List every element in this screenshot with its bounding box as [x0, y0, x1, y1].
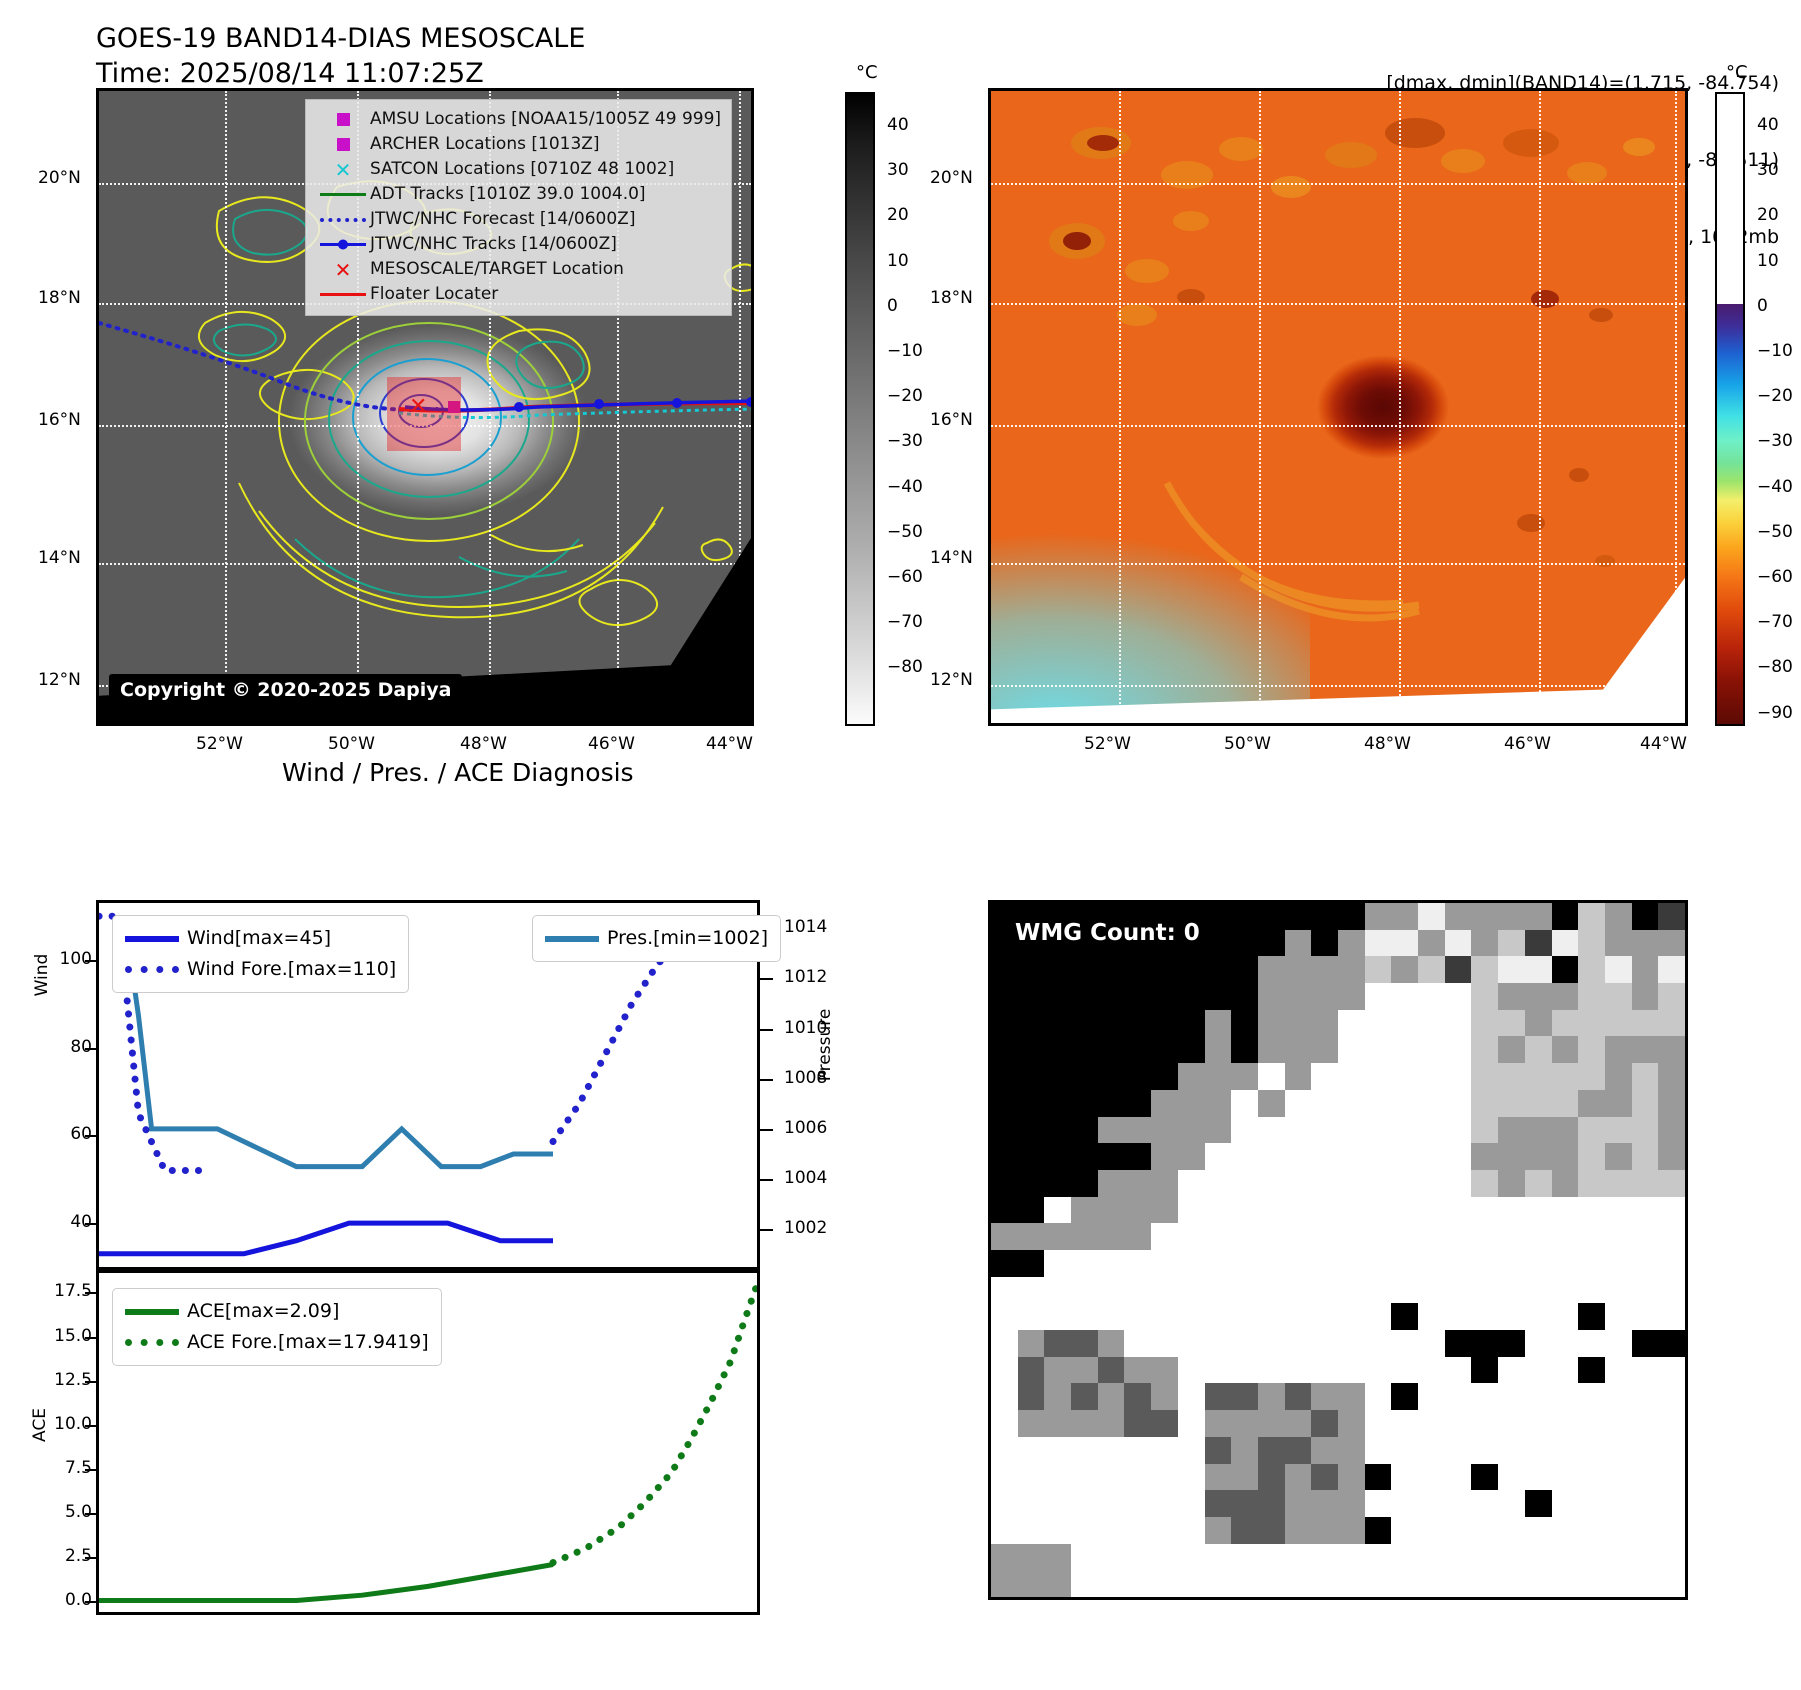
wmg-tile [1124, 1036, 1151, 1063]
pressure-tick-mark [760, 1079, 773, 1081]
wmg-tile [1552, 1303, 1579, 1330]
wmg-tile [991, 1383, 1018, 1410]
wmg-tile [1311, 983, 1338, 1010]
wmg-tile [1498, 1437, 1525, 1464]
wmg-tile [1285, 1197, 1312, 1224]
wmg-tile [1471, 903, 1498, 930]
wmg-tile [1044, 1330, 1071, 1357]
ir-lon-tick-44w: 44°W [706, 734, 753, 754]
wmg-tile [1151, 1036, 1178, 1063]
wmg-tile [1578, 1063, 1605, 1090]
wmg-tile [1124, 1277, 1151, 1304]
wmg-tile [1258, 1170, 1285, 1197]
wmg-tile [1552, 1544, 1579, 1571]
legend-item: Wind[max=45] [125, 923, 396, 954]
wmg-tile [1578, 1303, 1605, 1330]
wmg-tile [1552, 1490, 1579, 1517]
ir-lat-tick-16n: 16°N [38, 410, 81, 430]
wmg-tile [1418, 1464, 1445, 1491]
colorbar-tick-label: 10 [887, 251, 909, 271]
colorbar-tick-label: −10 [887, 341, 923, 361]
wmg-tile [1578, 1410, 1605, 1437]
wmg-tile [1525, 1437, 1552, 1464]
wmg-tile [1018, 1517, 1045, 1544]
legend-item: Floater Locater [316, 282, 721, 307]
wmg-tile [1365, 1490, 1392, 1517]
wmg-tile [1124, 956, 1151, 983]
wmg-tile [1018, 1464, 1045, 1491]
wmg-tile [1285, 1517, 1312, 1544]
wmg-tile [1498, 1250, 1525, 1277]
wmg-tile [1018, 1197, 1045, 1224]
wmg-tile [1365, 1303, 1392, 1330]
wmg-tile [1178, 1036, 1205, 1063]
wmg-tile [1258, 1464, 1285, 1491]
wmg-tile [1044, 1117, 1071, 1144]
amsu-square-icon [316, 113, 370, 126]
ir-mesoscale-map[interactable]: ✕ AMSU Locations [NOAA15/1005Z 49 999] A… [96, 88, 754, 726]
wmg-tile [1658, 930, 1685, 957]
wmg-tile [1178, 1250, 1205, 1277]
wmg-tile [1258, 1357, 1285, 1384]
wmg-tile [1498, 1303, 1525, 1330]
wmg-tile [1632, 1410, 1659, 1437]
wmg-tile [1445, 1036, 1472, 1063]
ir-lon-tick-48w: 48°W [460, 734, 507, 754]
floater-line-icon [316, 293, 370, 296]
wmg-tile [1365, 1250, 1392, 1277]
wmg-tile [1365, 1437, 1392, 1464]
wmg-tile [1098, 1357, 1125, 1384]
wmg-tile [1285, 1437, 1312, 1464]
wmg-tile [1552, 1143, 1579, 1170]
wmg-tile [1658, 1090, 1685, 1117]
wmg-tile [1258, 1277, 1285, 1304]
wmg-tile [1044, 1250, 1071, 1277]
wmg-tile [1098, 1464, 1125, 1491]
wmg-tile [1098, 1010, 1125, 1037]
wmg-tile [1205, 1036, 1232, 1063]
ir-lat-tick-18n: 18°N [38, 288, 81, 308]
wmg-tile [1098, 1170, 1125, 1197]
wmg-tile [1338, 1010, 1365, 1037]
wmg-tile [1018, 1357, 1045, 1384]
wmg-tile [1258, 1517, 1285, 1544]
wmg-tile [1044, 1090, 1071, 1117]
wmg-tile [1418, 930, 1445, 957]
wmg-tile [1124, 1570, 1151, 1597]
wmg-tile [1338, 903, 1365, 930]
wmg-tile [1205, 1303, 1232, 1330]
wmg-tile [1258, 1143, 1285, 1170]
wmg-tile [991, 956, 1018, 983]
wmg-tile [1258, 1303, 1285, 1330]
wmg-tile [1044, 1464, 1071, 1491]
colorbar-tick-label: −60 [887, 567, 923, 587]
wmg-tile [1552, 1223, 1579, 1250]
forecast-dotted-line-icon [316, 218, 370, 222]
wmg-tile [1151, 1303, 1178, 1330]
wmg-tile [1124, 1170, 1151, 1197]
ir-lat-tick-20n: 20°N [38, 168, 81, 188]
colorbar-tick-label: 40 [1757, 115, 1779, 135]
colorbar-tick-label: 30 [887, 160, 909, 180]
wmg-tile [1338, 1490, 1365, 1517]
wmg-tile [1258, 1197, 1285, 1224]
wmg-tile [1632, 1223, 1659, 1250]
wmg-tile [1418, 1063, 1445, 1090]
wmg-tile [1605, 1170, 1632, 1197]
wmg-tile [1552, 1197, 1579, 1224]
wmg-tile [1311, 1570, 1338, 1597]
wmg-tile [1285, 1036, 1312, 1063]
wmg-tile [1338, 1330, 1365, 1357]
wmg-tile [1311, 1250, 1338, 1277]
wmg-tile [1258, 1223, 1285, 1250]
wmg-tile [1498, 1010, 1525, 1037]
wmg-tile [1071, 1010, 1098, 1037]
wmg-tile [991, 1330, 1018, 1357]
wmg-tile [1365, 1383, 1392, 1410]
legend-label: JTWC/NHC Forecast [14/0600Z] [370, 211, 635, 228]
wmg-tile [1525, 1063, 1552, 1090]
wmg-tile [1365, 1063, 1392, 1090]
wmg-tile [1552, 1383, 1579, 1410]
legend-label: ACE Fore.[max=17.9419] [187, 1333, 429, 1352]
wmg-tile [1231, 1036, 1258, 1063]
wmg-tile [1445, 903, 1472, 930]
wmg-tile [1258, 1090, 1285, 1117]
wmg-tile [1018, 1063, 1045, 1090]
wmg-tile [1338, 1277, 1365, 1304]
wmg-tile [1018, 1117, 1045, 1144]
wmg-tile [1391, 1357, 1418, 1384]
ace-tick-label: 10.0 [30, 1414, 92, 1434]
wmg-tile [1285, 1143, 1312, 1170]
map-legend: AMSU Locations [NOAA15/1005Z 49 999] ARC… [305, 99, 732, 316]
wmg-tile [1658, 1464, 1685, 1491]
pressure-solid-line-icon [545, 936, 607, 942]
wmg-tile [1471, 1570, 1498, 1597]
wmg-tile [1605, 1383, 1632, 1410]
wmg-tile [1391, 1250, 1418, 1277]
wmg-tile [1578, 1437, 1605, 1464]
wmg-tile [1418, 1330, 1445, 1357]
wmg-tile [1285, 903, 1312, 930]
wmg-tile [1151, 1383, 1178, 1410]
wmg-tile [1418, 1410, 1445, 1437]
wmg-tile [1391, 1383, 1418, 1410]
wmg-tile [1124, 1010, 1151, 1037]
colorbar-tick-label: −20 [887, 386, 923, 406]
wmg-tile [1311, 1117, 1338, 1144]
wmg-tile [1044, 1383, 1071, 1410]
wmg-tile [1285, 1090, 1312, 1117]
wmg-tile [1098, 1063, 1125, 1090]
wmg-tile [1552, 1036, 1579, 1063]
wmg-tile [1365, 1010, 1392, 1037]
wmg-tile [1098, 1383, 1125, 1410]
wmg-tile [1365, 1117, 1392, 1144]
wmg-tile [1205, 1223, 1232, 1250]
wmg-tile [1205, 956, 1232, 983]
wmg-tile [1258, 1410, 1285, 1437]
wmg-tile [991, 1250, 1018, 1277]
wmg-tile [1311, 1090, 1338, 1117]
wmg-tile [1311, 1170, 1338, 1197]
wmg-tile [1605, 1464, 1632, 1491]
wmg-tile [1658, 1437, 1685, 1464]
wmg-tile [1151, 1090, 1178, 1117]
wmg-tile [1632, 1517, 1659, 1544]
wmg-tile [1124, 1063, 1151, 1090]
wmg-tile [1391, 1090, 1418, 1117]
wmg-tile [1124, 1143, 1151, 1170]
colorbar-tick-label: 20 [1757, 205, 1779, 225]
wmg-tile [1525, 1570, 1552, 1597]
wmg-tile [1471, 1117, 1498, 1144]
wmg-tile [1445, 1063, 1472, 1090]
wmg-tile [1445, 1437, 1472, 1464]
wmg-tile [1178, 1090, 1205, 1117]
wmg-tile [1231, 1517, 1258, 1544]
wmg-tile [1391, 1197, 1418, 1224]
wmg-tile [1391, 1117, 1418, 1144]
wmg-tile [1018, 1036, 1045, 1063]
wmg-tile [1578, 1330, 1605, 1357]
legend-item: ACE[max=2.09] [125, 1296, 429, 1327]
wmg-tile [1124, 1490, 1151, 1517]
wmg-tile [1098, 1090, 1125, 1117]
awv-gridline-50w [1259, 91, 1261, 723]
wmg-tile [1578, 1277, 1605, 1304]
wmg-tile [1205, 1250, 1232, 1277]
wmg-tile [1632, 1036, 1659, 1063]
wmg-tile [1311, 956, 1338, 983]
awv-enhanced-map[interactable] [988, 88, 1688, 726]
legend-label: Pres.[min=1002] [607, 929, 768, 948]
wmg-tile [1632, 1330, 1659, 1357]
wmg-tile [1071, 1383, 1098, 1410]
wmg-tile [1231, 1570, 1258, 1597]
track-marker [594, 399, 604, 409]
wmg-tile [1658, 1036, 1685, 1063]
wmg-tile [1525, 1010, 1552, 1037]
wmg-tile [1338, 1170, 1365, 1197]
wmg-mosaic-panel[interactable]: WMG Count: 0 [988, 900, 1688, 1600]
wmg-tile [1498, 1223, 1525, 1250]
wmg-tile [1338, 956, 1365, 983]
wmg-tile [1605, 1063, 1632, 1090]
ace-legend: ACE[max=2.09] ACE Fore.[max=17.9419] [112, 1288, 442, 1366]
wind-tick-mark [85, 960, 96, 962]
wmg-tile [1418, 1490, 1445, 1517]
wmg-tile [1071, 1303, 1098, 1330]
wmg-tile [1658, 956, 1685, 983]
wmg-tile [1418, 1090, 1445, 1117]
wmg-tile [1578, 1490, 1605, 1517]
wmg-tile [1605, 1330, 1632, 1357]
wmg-tile [1658, 1544, 1685, 1571]
wmg-tile [1124, 1223, 1151, 1250]
wmg-tile [1285, 1170, 1312, 1197]
wmg-tile [1658, 1517, 1685, 1544]
wmg-tile [1658, 1383, 1685, 1410]
wmg-tile [1018, 1090, 1045, 1117]
wmg-tile [1231, 930, 1258, 957]
wmg-tile [1445, 1303, 1472, 1330]
wmg-tile [1471, 1490, 1498, 1517]
legend-item: JTWC/NHC Forecast [14/0600Z] [316, 207, 721, 232]
legend-item: AMSU Locations [NOAA15/1005Z 49 999] [316, 107, 721, 132]
wmg-tile [1498, 1464, 1525, 1491]
wmg-tile [1178, 1143, 1205, 1170]
wmg-tile [1124, 1383, 1151, 1410]
ace-tick-mark [85, 1557, 96, 1559]
awv-convective-cells [991, 91, 1688, 726]
wmg-tile [1311, 1010, 1338, 1037]
wmg-tile [991, 1143, 1018, 1170]
wmg-tile [1311, 1303, 1338, 1330]
wmg-tile [1498, 1063, 1525, 1090]
pressure-tick-mark [760, 1229, 773, 1231]
wmg-tile [1498, 1197, 1525, 1224]
wmg-tile [1418, 1383, 1445, 1410]
wmg-tile [1605, 1036, 1632, 1063]
wmg-tile [1205, 1490, 1232, 1517]
wmg-tile [1071, 1063, 1098, 1090]
colorbar-tick-label: −50 [887, 522, 923, 542]
wmg-tile [1445, 1517, 1472, 1544]
wind-tick-label: 40 [48, 1212, 92, 1232]
wmg-tile [1124, 1357, 1151, 1384]
chart-series-line [553, 1285, 757, 1563]
wmg-tile [1498, 1143, 1525, 1170]
title-line-2: Time: 2025/08/14 11:07:25Z [96, 58, 484, 89]
legend-label: Floater Locater [370, 286, 498, 303]
wmg-tile [1098, 1277, 1125, 1304]
ace-tick-label: 17.5 [30, 1281, 92, 1301]
wmg-tile [1178, 1010, 1205, 1037]
colorbar-tick-label: −30 [1757, 431, 1793, 451]
wmg-tile [1445, 1117, 1472, 1144]
wmg-tile [1044, 1544, 1071, 1571]
wmg-tile [1258, 930, 1285, 957]
colorbar-tick-label: −20 [1757, 386, 1793, 406]
wmg-tile [1044, 1517, 1071, 1544]
wmg-tile [1205, 1437, 1232, 1464]
wmg-tile [1445, 956, 1472, 983]
wmg-tile [1525, 1036, 1552, 1063]
wmg-tile [991, 1544, 1018, 1571]
ir-lon-tick-46w: 46°W [588, 734, 635, 754]
wmg-tile [1258, 903, 1285, 930]
wmg-tile [1044, 1570, 1071, 1597]
pressure-tick-label: 1002 [784, 1218, 827, 1238]
wmg-tile [1498, 1490, 1525, 1517]
wmg-tile [1124, 1330, 1151, 1357]
wmg-tile [1525, 1330, 1552, 1357]
wmg-tile [1525, 983, 1552, 1010]
wmg-tile [1578, 1357, 1605, 1384]
wmg-tile [1205, 1544, 1232, 1571]
wmg-tile [1231, 1223, 1258, 1250]
wmg-tile [1311, 1197, 1338, 1224]
wmg-tile [1124, 1464, 1151, 1491]
wmg-tile [1338, 1383, 1365, 1410]
wmg-tile [1632, 1570, 1659, 1597]
wmg-tile [1018, 1330, 1045, 1357]
wmg-tile [1178, 1223, 1205, 1250]
wmg-tile [1071, 1464, 1098, 1491]
wmg-tile [1258, 1010, 1285, 1037]
wmg-tile [1658, 903, 1685, 930]
awv-gridline-20n [991, 183, 1685, 185]
wmg-tile [1552, 1357, 1579, 1384]
ace-tick-mark [85, 1601, 96, 1603]
wind-legend-right: Pres.[min=1002] [532, 915, 781, 962]
wmg-tile [1498, 1090, 1525, 1117]
wmg-tile [1471, 1357, 1498, 1384]
chart-series-line [99, 1223, 553, 1254]
wmg-tile [1311, 1410, 1338, 1437]
wmg-tile [1605, 983, 1632, 1010]
wmg-tile [1258, 1063, 1285, 1090]
wmg-tile [1231, 1490, 1258, 1517]
wmg-tile [991, 1303, 1018, 1330]
wmg-tile [1205, 1464, 1232, 1491]
wmg-tile [1285, 983, 1312, 1010]
wmg-tile [1124, 1437, 1151, 1464]
wmg-tile [1151, 1010, 1178, 1037]
wmg-tile [1044, 1197, 1071, 1224]
track-marker [514, 402, 524, 412]
wmg-tile [1418, 1277, 1445, 1304]
wmg-tile [1365, 1410, 1392, 1437]
wmg-tile [1365, 903, 1392, 930]
wmg-tile [991, 1464, 1018, 1491]
wmg-tile [1418, 1303, 1445, 1330]
wmg-tile [1578, 903, 1605, 930]
wmg-tile [1018, 1437, 1045, 1464]
wmg-tile [1471, 1090, 1498, 1117]
awv-gridline-52w [1119, 91, 1121, 723]
wmg-tile [1578, 1143, 1605, 1170]
wmg-tile [1071, 1143, 1098, 1170]
wmg-tile [1311, 1036, 1338, 1063]
wmg-tile [1391, 956, 1418, 983]
wmg-tile [1471, 930, 1498, 957]
wmg-tile [1445, 1143, 1472, 1170]
wmg-tile [1231, 1437, 1258, 1464]
wmg-tile [1365, 1277, 1392, 1304]
wmg-tile [1151, 1223, 1178, 1250]
wmg-tile [1391, 1223, 1418, 1250]
wmg-tile [1124, 1303, 1151, 1330]
wmg-tile [1498, 1383, 1525, 1410]
colorbar-tick-label: 40 [887, 115, 909, 135]
wmg-tile [1498, 1330, 1525, 1357]
wmg-tile [1231, 1383, 1258, 1410]
wmg-tile [1445, 1464, 1472, 1491]
wmg-tile [1311, 1357, 1338, 1384]
wmg-tile [1098, 956, 1125, 983]
wmg-tile [1044, 1277, 1071, 1304]
wmg-tile [1605, 1277, 1632, 1304]
wmg-tile [1471, 1410, 1498, 1437]
wmg-tile [1338, 1410, 1365, 1437]
wmg-tile [1098, 1250, 1125, 1277]
